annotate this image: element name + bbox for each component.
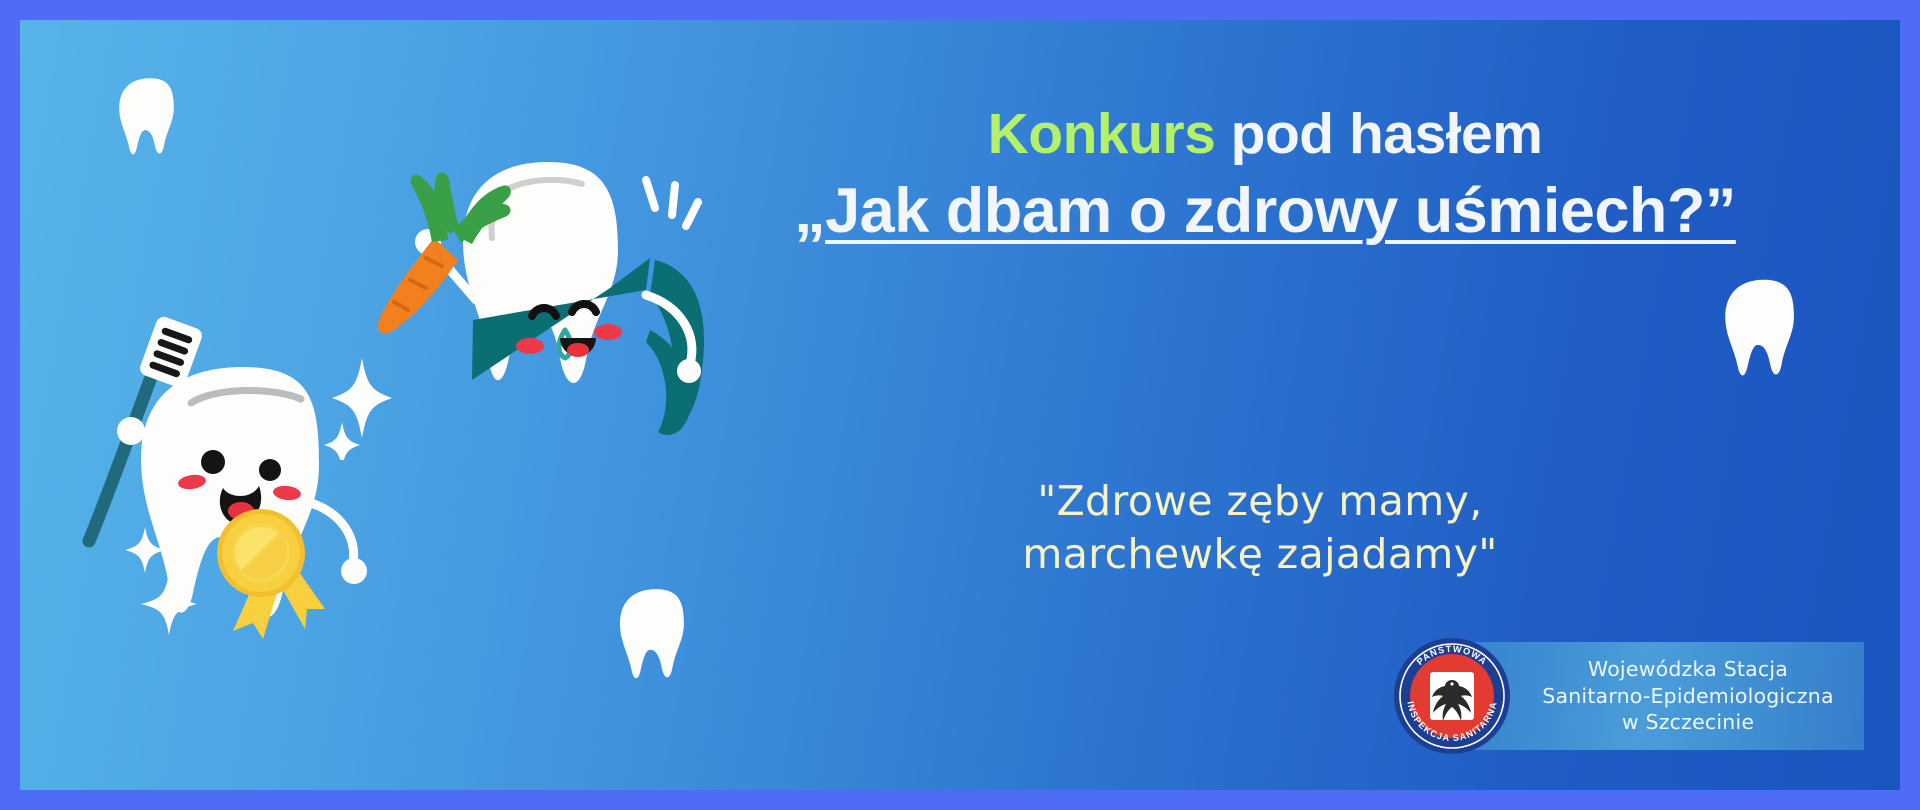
left-blush: [516, 338, 544, 354]
right-hand: [341, 558, 367, 584]
poster-canvas: Konkurs pod hasłem „Jak dbam o zdrowy uś…: [20, 20, 1900, 790]
headline-block: Konkurs pod hasłem „Jak dbam o zdrowy uś…: [720, 105, 1810, 243]
award-medal-icon: [217, 509, 325, 639]
action-lines-icon: [646, 180, 698, 226]
left-hand: [117, 417, 145, 445]
right-hand: [677, 359, 701, 383]
org-line-1: Wojewódzka Stacja: [1538, 656, 1838, 683]
rhyme-line-1: "Zdrowe zęby mamy,: [780, 475, 1740, 528]
floating-tooth-icon-top-left: [115, 75, 185, 160]
headline-line-1-rest: pod hasłem: [1215, 102, 1542, 166]
left-eye: [201, 450, 225, 474]
headline-open-quote: „: [794, 176, 825, 246]
right-arm: [311, 503, 354, 563]
floating-tooth-icon-right: [1720, 275, 1808, 383]
org-line-2: Sanitarno-Epidemiologiczna: [1538, 683, 1838, 710]
poster-root: Konkurs pod hasłem „Jak dbam o zdrowy uś…: [0, 0, 1920, 810]
org-line-3: w Szczecinie: [1538, 709, 1838, 736]
logo-lockup: PAŃSTWOWA INSPEKCJA SANITARNA Wojewódzka…: [1392, 636, 1864, 756]
headline-line-2: „Jak dbam o zdrowy uśmiech?”: [720, 179, 1810, 243]
rhyme-quote-block: "Zdrowe zęby mamy, marchewkę zajadamy": [780, 475, 1740, 582]
organization-name-plate: Wojewódzka Stacja Sanitarno-Epidemiologi…: [1468, 642, 1864, 750]
sanitary-inspection-seal-icon: PAŃSTWOWA INSPEKCJA SANITARNA: [1392, 636, 1512, 756]
floating-tooth-icon-bottom-center: [615, 585, 697, 685]
tongue: [567, 343, 589, 357]
right-eye: [259, 459, 281, 481]
headline-slogan: Jak dbam o zdrowy uśmiech?”: [825, 176, 1736, 246]
headline-accent-word: Konkurs: [988, 102, 1216, 166]
right-blush: [594, 324, 622, 340]
sparkle-icon-upper: [320, 350, 400, 460]
headline-line-1: Konkurs pod hasłem: [720, 105, 1810, 163]
rhyme-line-2: marchewkę zajadamy": [780, 528, 1740, 581]
